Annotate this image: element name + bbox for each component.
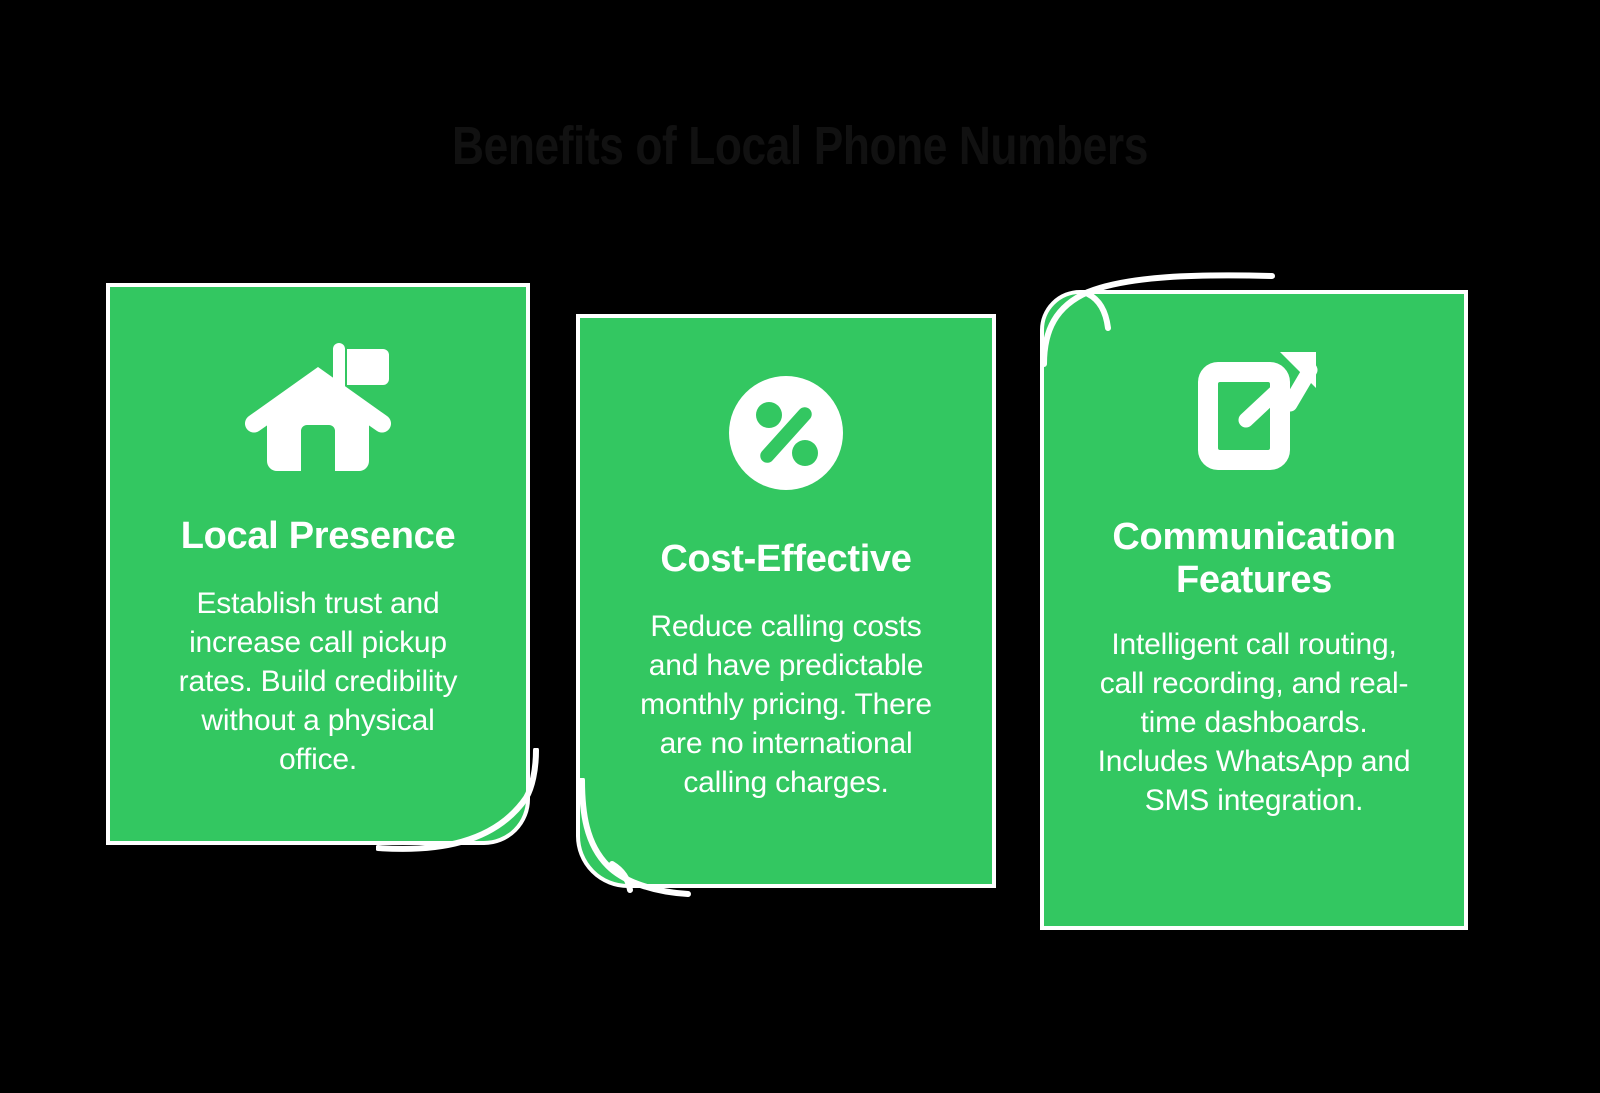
card-title: Communication Features bbox=[1089, 516, 1419, 601]
percent-circle-icon bbox=[727, 374, 845, 492]
benefit-card-communication-features: Communication Features Intelligent call … bbox=[1040, 290, 1468, 930]
card-description: Reduce calling costs and have predictabl… bbox=[626, 607, 946, 802]
infographic-root: Benefits of Local Phone Numbers Local Pr… bbox=[0, 0, 1600, 1093]
card-title: Local Presence bbox=[181, 515, 456, 558]
card-description: Intelligent call routing, call recording… bbox=[1094, 625, 1414, 820]
card-title: Cost-Effective bbox=[660, 538, 911, 581]
house-with-flag-icon bbox=[243, 335, 393, 477]
benefit-card-local-presence: Local Presence Establish trust and incre… bbox=[106, 283, 530, 845]
card-description: Establish trust and increase call pickup… bbox=[168, 584, 468, 779]
page-title: Benefits of Local Phone Numbers bbox=[144, 118, 1456, 175]
mobile-growth-arrow-icon bbox=[1184, 342, 1324, 482]
benefit-card-cost-effective: Cost-Effective Reduce calling costs and … bbox=[576, 314, 996, 888]
